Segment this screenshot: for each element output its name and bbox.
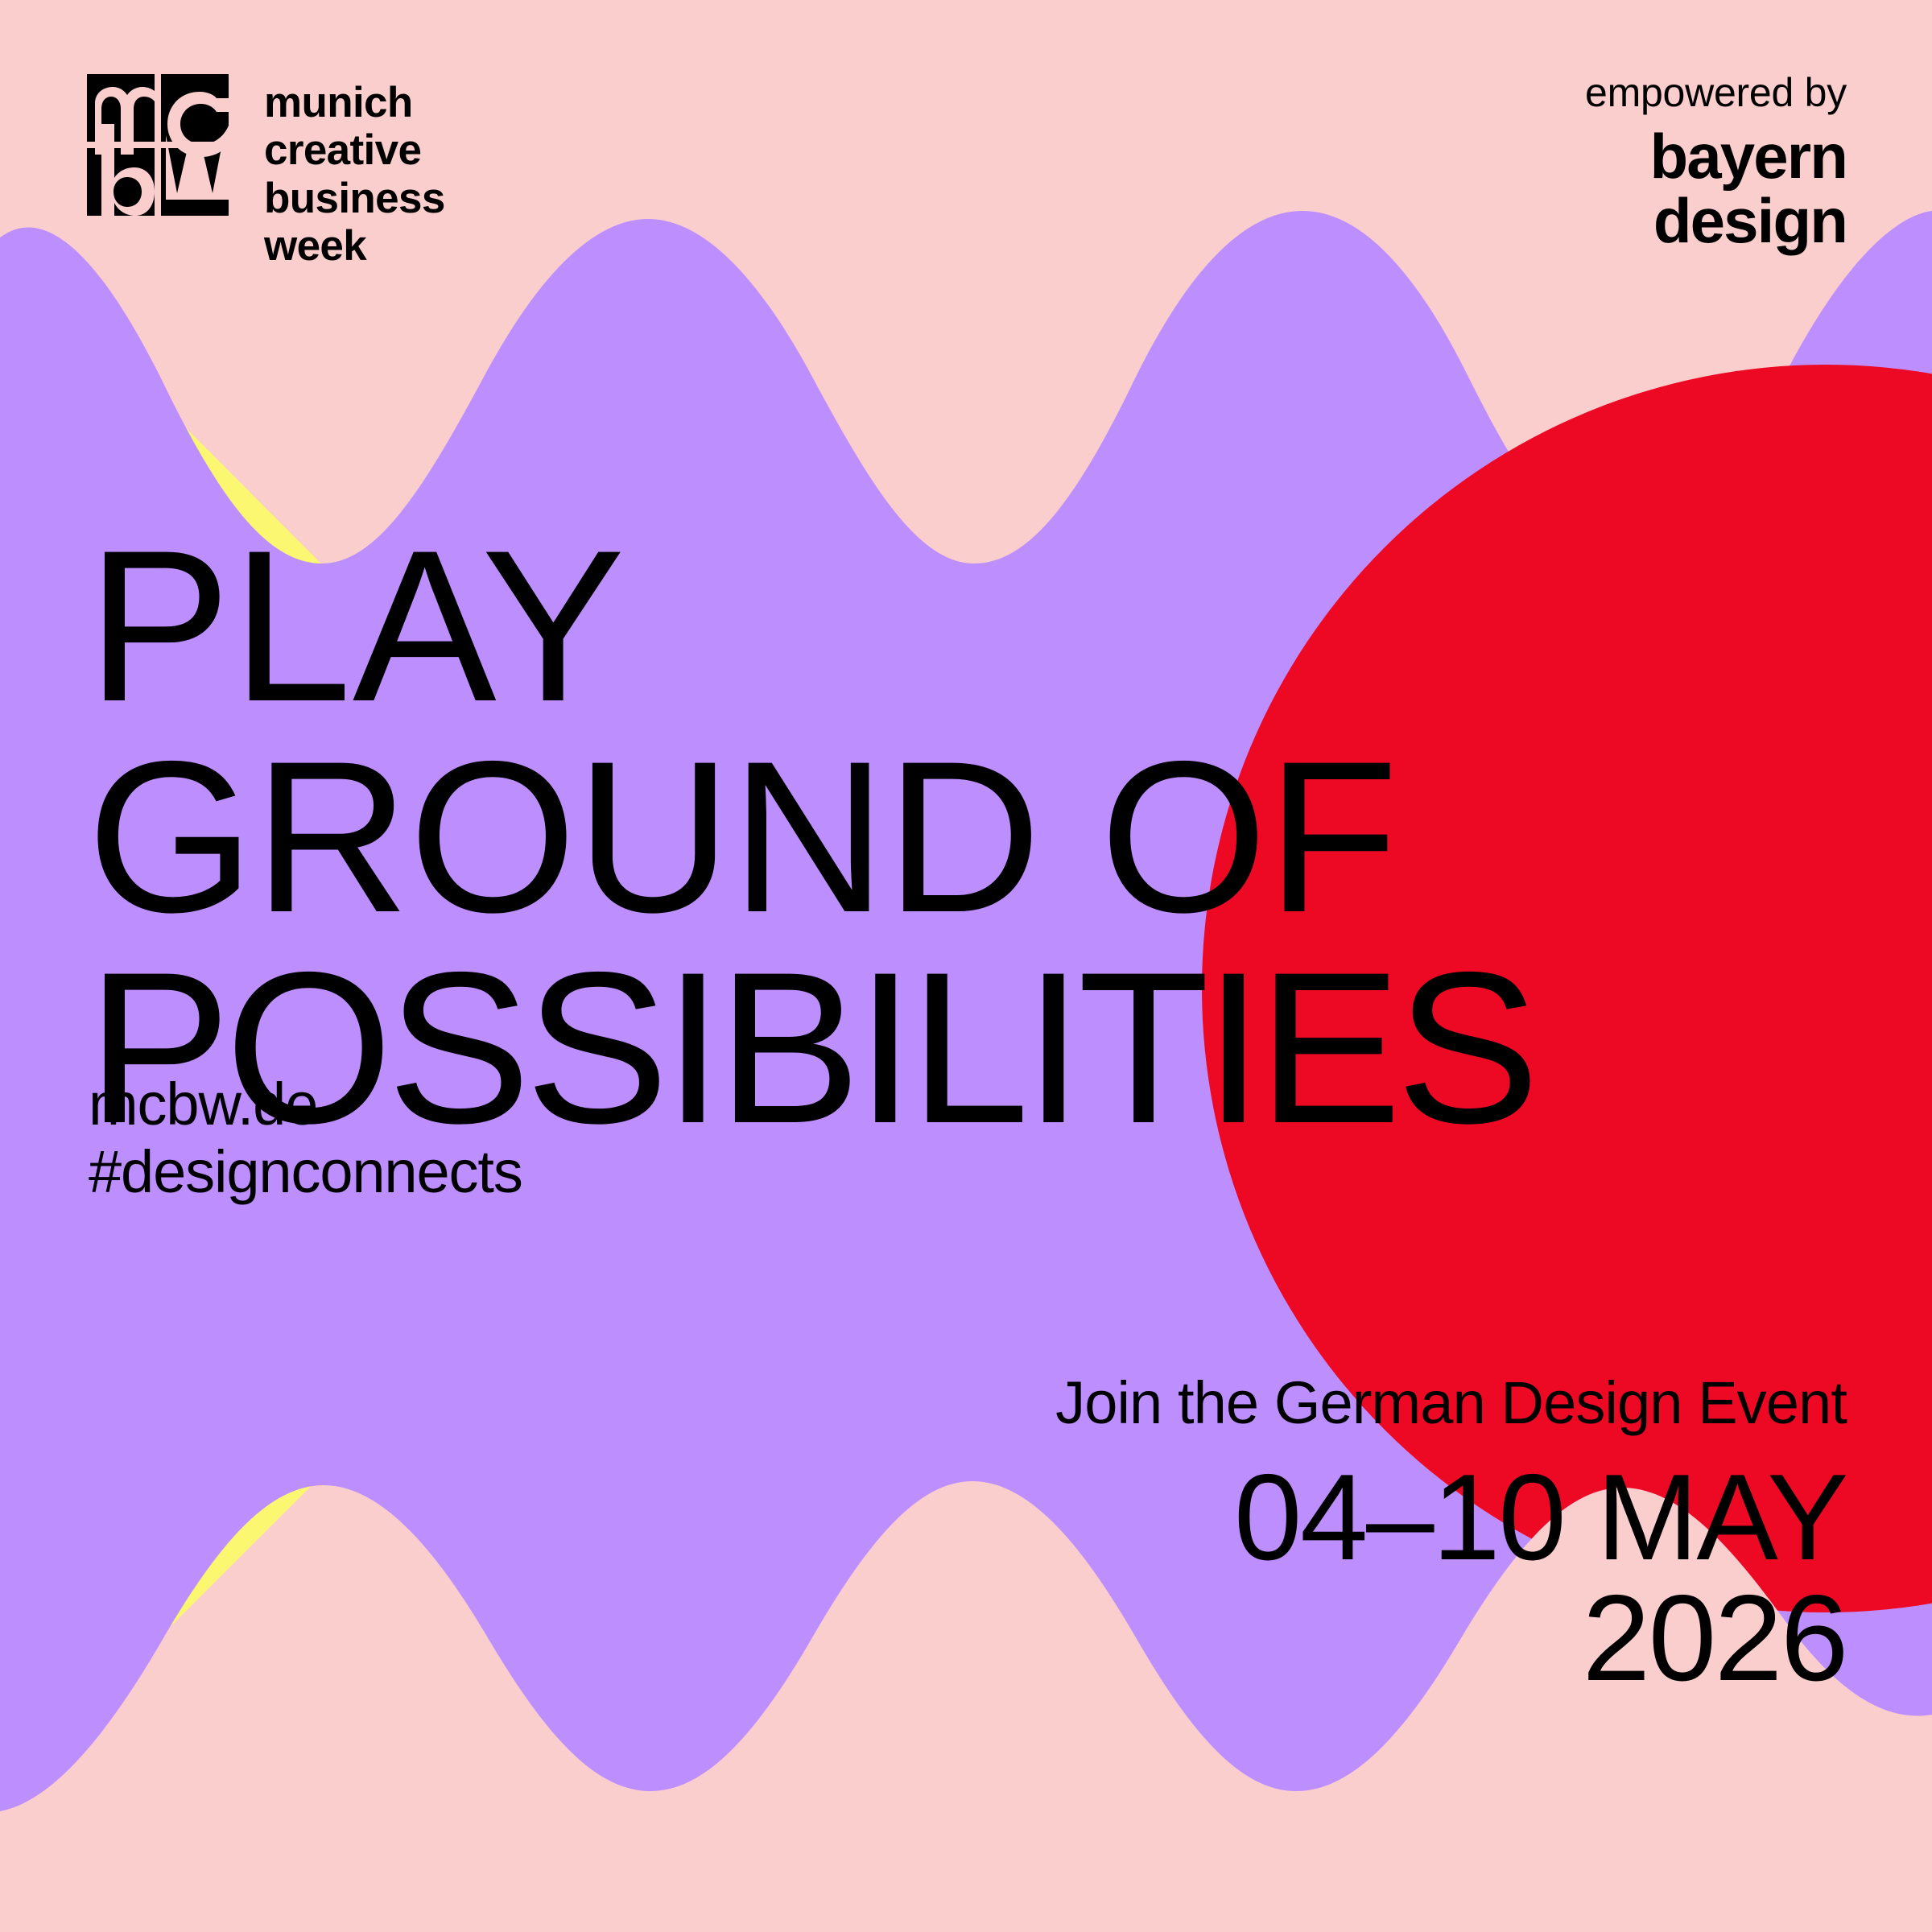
event-date-block: Join the German Design Event 04–10 MAY 2… [1055,1370,1847,1699]
website-link[interactable]: mcbw.de [89,1071,522,1138]
mcbw-wordmark: munich creative business week [264,74,445,270]
poster-content: munich creative business week empowered … [0,0,1932,1932]
event-dates: 04–10 MAY 2026 [1055,1457,1847,1699]
headline-line-1: PLAY [87,520,1534,731]
links-block: mcbw.de #designconnects [89,1071,522,1206]
mcbw-logo[interactable]: munich creative business week [87,74,445,270]
event-kicker: Join the German Design Event [1055,1370,1847,1436]
sponsor-kicker: empowered by [1585,71,1847,115]
headline-line-2: GROUND OF [87,731,1534,942]
event-year: 2026 [1055,1578,1847,1699]
sponsor-name-bayern-design: bayern design [1585,125,1847,253]
sponsor-lockup: empowered by bayern design [1585,71,1847,253]
hashtag-label[interactable]: #designconnects [89,1138,522,1206]
mcbw-logo-mark-icon [87,74,229,216]
event-date-range: 04–10 MAY [1055,1457,1847,1578]
page-title: PLAY GROUND OF POSSIBILITIES [87,520,1534,1153]
mcbw-poster: munich creative business week empowered … [0,0,1932,1932]
